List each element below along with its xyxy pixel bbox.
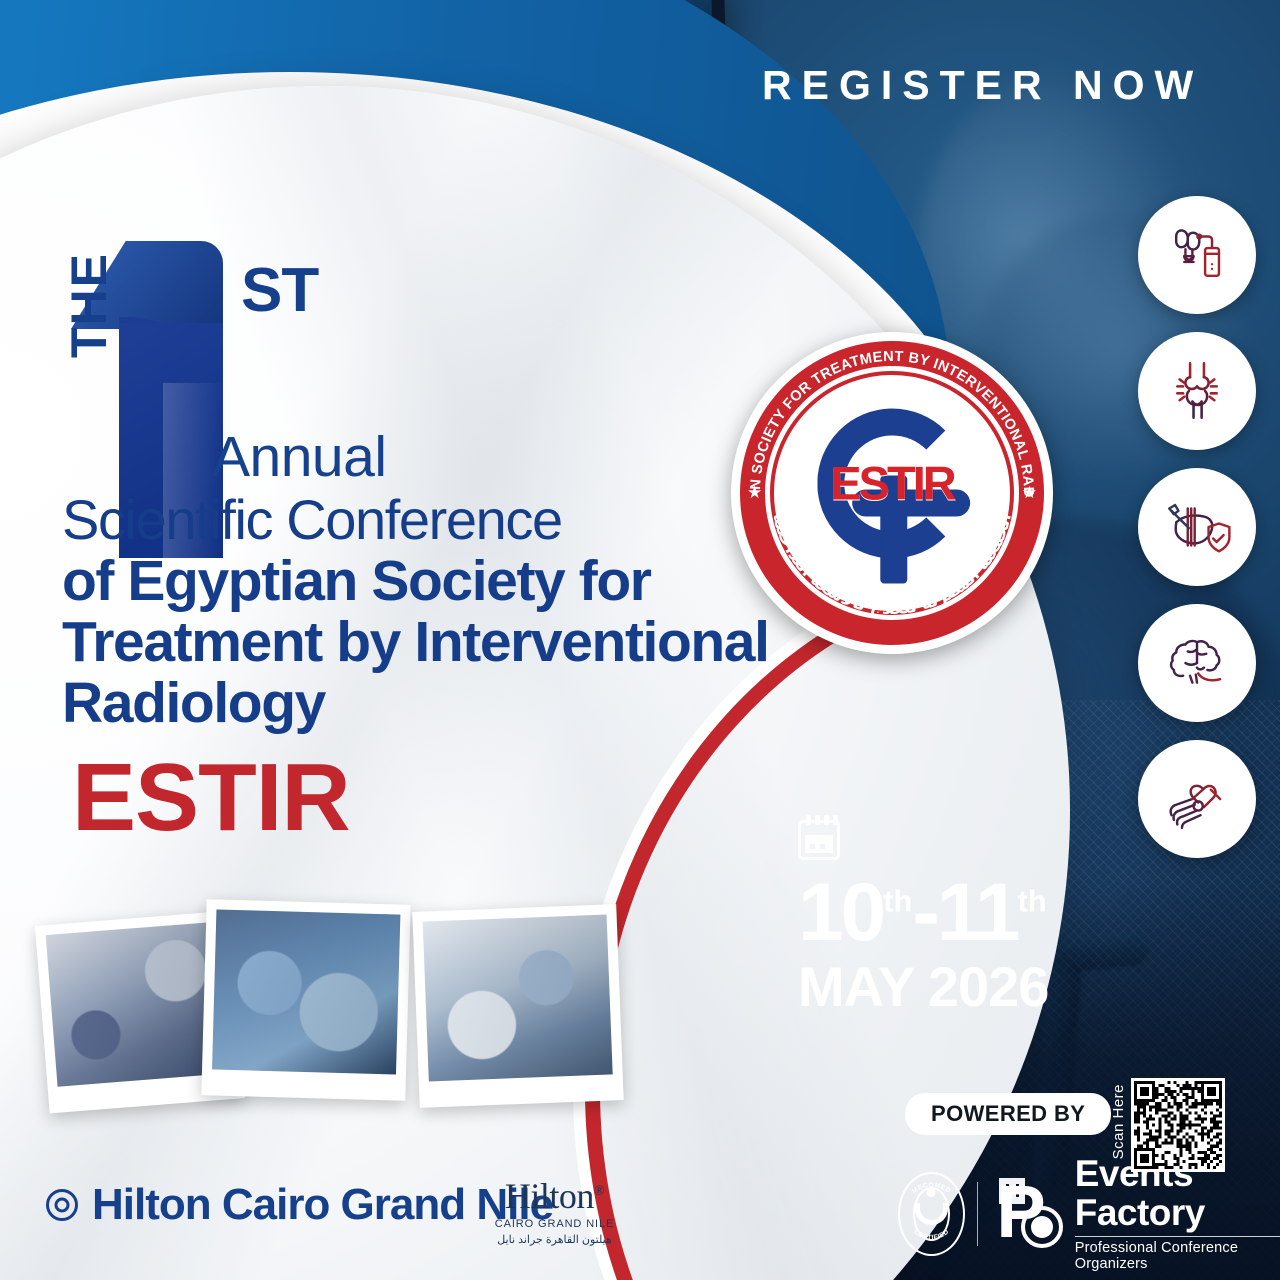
monogram-text: ESTIR [830, 457, 953, 510]
hilton-wordmark: Hilton® [492, 1178, 617, 1214]
qr-code-block[interactable]: Scan Here [1110, 1078, 1225, 1172]
powered-by-badge: POWERED BY [905, 1093, 1111, 1135]
pco-letter-o [1021, 1206, 1063, 1248]
pco-dot-grid [999, 1178, 1025, 1204]
pco-logo: P [990, 1174, 1058, 1254]
hilton-property: CAIRO GRAND NILE [492, 1218, 617, 1230]
events-factory-rule [1075, 1236, 1280, 1238]
photo-card-3 [412, 904, 623, 1108]
day-first: 10 [798, 867, 883, 958]
photo-card-2 [201, 899, 410, 1101]
knee-joint-pain-icon [1138, 332, 1256, 450]
seal-star-left-icon: ★ [747, 483, 762, 503]
photo-image-ct-scanner [423, 915, 613, 1082]
hilton-name: Hilton [505, 1176, 594, 1216]
pco-dot [1031, 1216, 1053, 1238]
day-separator: - [912, 867, 936, 958]
title-line-1: Scientific Conference [62, 492, 562, 548]
sponsor-divider [977, 1182, 979, 1246]
specialty-icon-column [1138, 196, 1256, 858]
day-first-suffix: th [883, 884, 912, 919]
register-now-heading: REGISTER NOW [762, 62, 1203, 109]
events-factory-tagline: Professional Conference Organizers [1075, 1240, 1280, 1272]
photo-strip [36, 900, 646, 1150]
hand-wrist-icon [1138, 740, 1256, 858]
title-line-2: of Egyptian Society for [62, 553, 651, 610]
svg-text:MECOMED: MECOMED [911, 1182, 952, 1195]
sponsor-logos: MECOMED CERTIFIED P Events Factory Profe… [898, 1155, 1280, 1272]
mecomed-certified-badge: MECOMED CERTIFIED [898, 1172, 965, 1256]
hilton-logo: Hilton® CAIRO GRAND NILE هيلتون القاهرة … [492, 1178, 617, 1246]
venue-name: Hilton Cairo Grand Nile [92, 1180, 553, 1230]
calendar-icon [798, 820, 840, 860]
annual-word: Annual [212, 424, 387, 490]
event-month-year: MAY 2026 [798, 954, 1048, 1019]
acronym-estir: ESTIR [72, 750, 350, 846]
event-days: 10th-11th [798, 874, 1048, 952]
qr-code-image [1134, 1081, 1222, 1169]
ordinal-suffix: ST [241, 255, 318, 326]
brain-icon [1138, 604, 1256, 722]
events-factory-logo: Events Factory Professional Conference O… [1075, 1155, 1280, 1272]
hilton-arabic: هيلتون القاهرة جراند نايل [492, 1233, 617, 1246]
thyroid-biopsy-icon [1138, 196, 1256, 314]
the-word-vertical: THE [60, 252, 118, 358]
svg-text:CERTIFIED: CERTIFIED [912, 1228, 950, 1241]
title-line-4: Radiology [62, 675, 325, 732]
title-line-3: Treatment by Interventional [62, 614, 769, 671]
location-pin-icon [46, 1189, 78, 1221]
seal-star-right-icon: ★ [1022, 483, 1037, 503]
liver-needle-shield-icon [1138, 468, 1256, 586]
day-second: 11 [937, 867, 1018, 958]
event-date-block: 10th-11th MAY 2026 [798, 820, 1048, 1019]
scan-here-label: Scan Here [1110, 1084, 1127, 1159]
seal-monogram: ESTIR [830, 456, 953, 511]
day-second-suffix: th [1017, 884, 1046, 919]
estir-society-seal: EGYPTIAN SOCIETY FOR TREATMENT BY INTERV… [731, 332, 1053, 654]
venue-block: Hilton Cairo Grand Nile [46, 1180, 553, 1230]
conference-poster: Reviewing Exit Reference Patient Images … [0, 0, 1280, 1280]
photo-image-angio-suite [212, 909, 400, 1074]
qr-code[interactable] [1131, 1078, 1225, 1172]
mecomed-curved-text: MECOMED CERTIFIED [898, 1172, 965, 1256]
